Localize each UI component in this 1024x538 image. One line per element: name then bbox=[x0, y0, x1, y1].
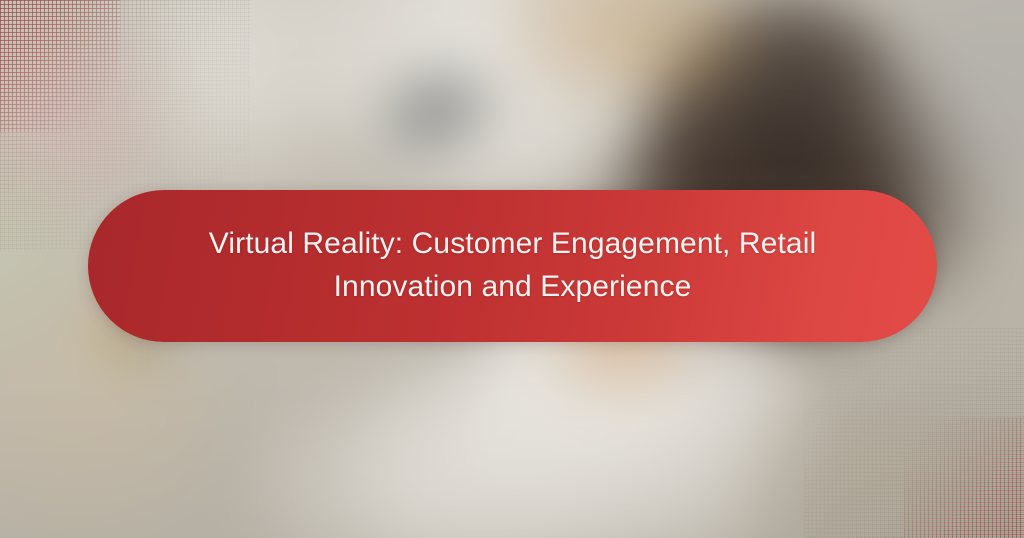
title-banner-pill: Virtual Reality: Customer Engagement, Re… bbox=[88, 190, 937, 342]
page-title-line-2: Innovation and Experience bbox=[209, 266, 816, 309]
page-title-line-1: Virtual Reality: Customer Engagement, Re… bbox=[209, 223, 816, 266]
page-title: Virtual Reality: Customer Engagement, Re… bbox=[209, 223, 816, 308]
banner-canvas: Virtual Reality: Customer Engagement, Re… bbox=[0, 0, 1024, 538]
